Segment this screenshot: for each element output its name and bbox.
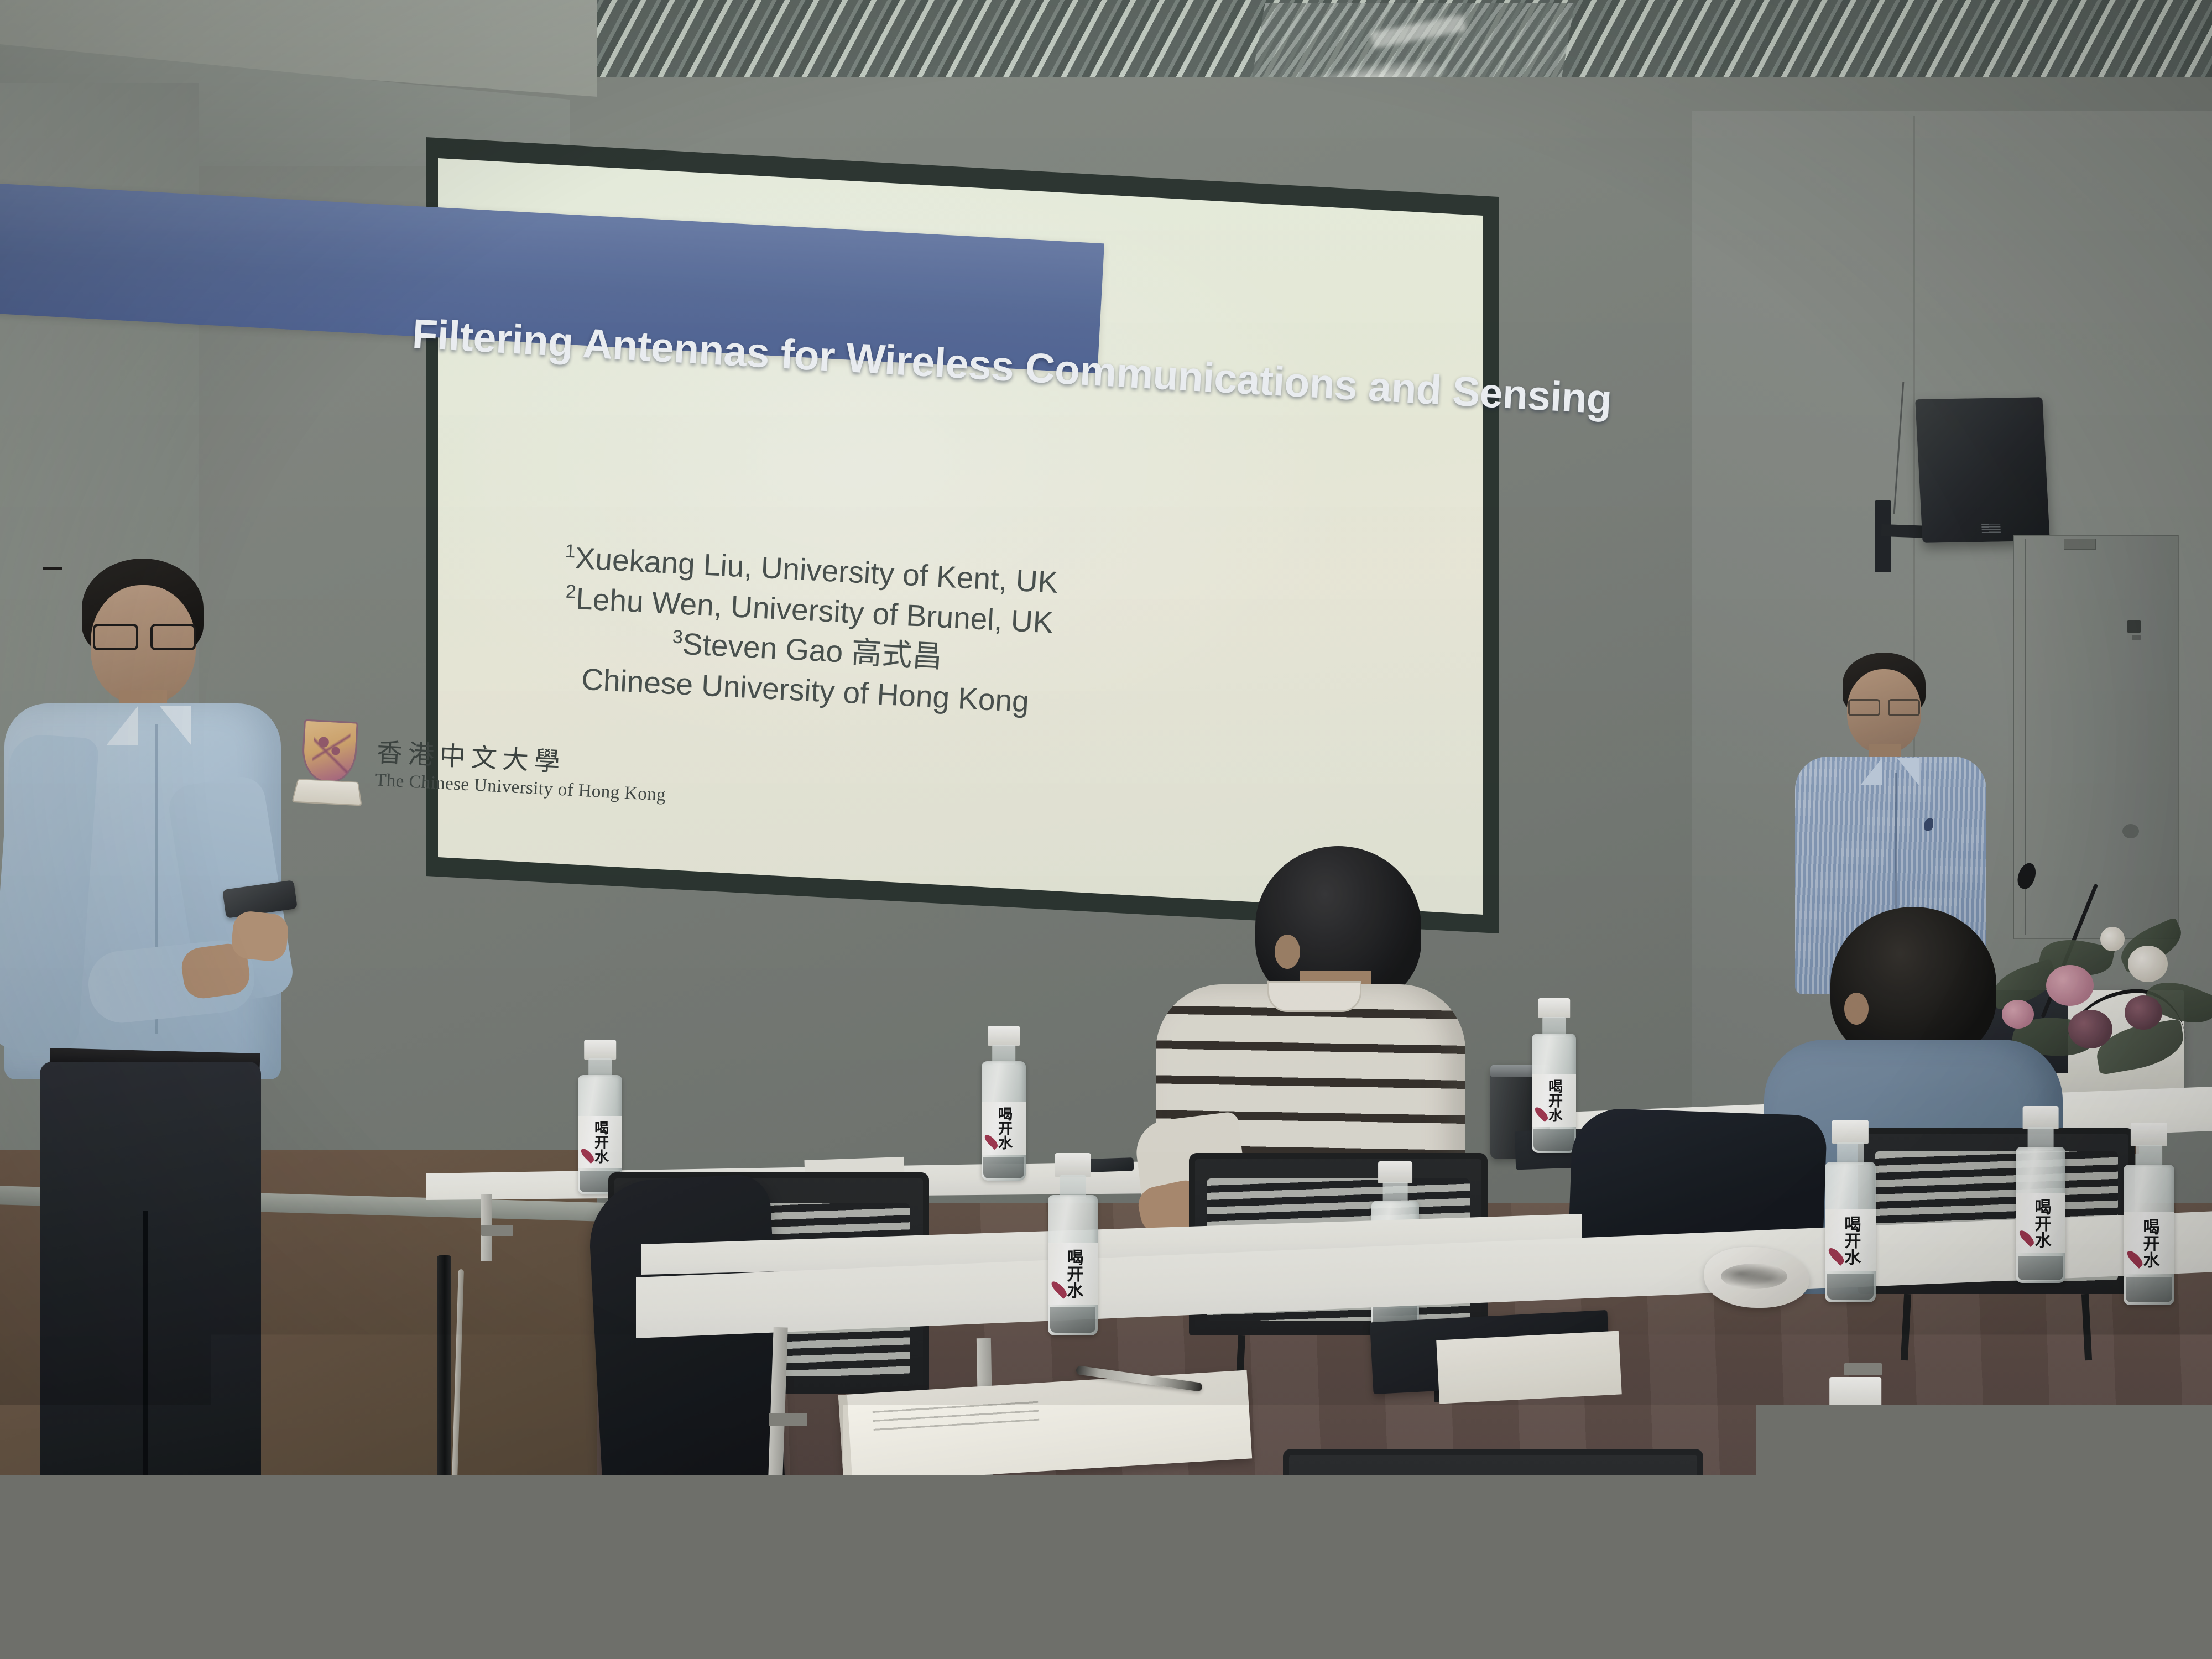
chair-back: [1283, 1449, 1703, 1659]
bottle-label: 喝开水: [1825, 1209, 1876, 1271]
bottle-water: [1827, 1274, 1874, 1300]
pole-base: [404, 1626, 498, 1659]
crest-ribbon: [291, 779, 362, 806]
person-presenter: [0, 559, 288, 1521]
bottle-body: 喝开水: [1825, 1162, 1876, 1302]
bottle-water: [1533, 1129, 1574, 1151]
collar-right: [159, 706, 191, 745]
room-door[interactable]: [2013, 535, 2179, 939]
bottle-cap: [1832, 1120, 1869, 1144]
door-lower-knob[interactable]: [2122, 824, 2139, 838]
trousers: [40, 1062, 261, 1521]
chair-slats: [1308, 1478, 1678, 1642]
bottle-cap: [1538, 998, 1570, 1018]
bottle-body: 喝开水: [1819, 1442, 1891, 1659]
wall-speaker-icon: [1915, 397, 2050, 543]
flower-bloom: [2068, 1010, 2112, 1048]
collar-right: [1897, 758, 1919, 785]
bottle-water: [1050, 1307, 1096, 1333]
collar-left: [1860, 758, 1882, 785]
bottle-body: 喝开水: [2124, 1165, 2174, 1305]
cuhk-crest-icon: [294, 719, 364, 805]
table-grommet: [481, 1225, 513, 1236]
bottle-body: 喝开水: [1532, 1034, 1576, 1153]
bottle-body: 喝开水: [1048, 1195, 1098, 1335]
speaker-brand-badge: [1981, 524, 2001, 533]
water-bottle[interactable]: 喝开水: [578, 1040, 622, 1194]
flower-bloom: [2128, 946, 2168, 982]
eyeglasses-icon: [93, 624, 196, 647]
water-bottle[interactable]: 喝开水: [1825, 1120, 1876, 1302]
bottle-label-text: 喝开水: [1843, 1215, 1859, 1265]
author-sup-3: 3: [672, 627, 684, 648]
bottle-cap: [1055, 1153, 1091, 1177]
conference-room-scene: Filtering Antennas for Wireless Communic…: [0, 0, 2212, 1659]
shoe-right: [105, 1477, 235, 1514]
eyeglasses-icon: [1848, 699, 1920, 713]
author-sup-2: 2: [565, 581, 577, 602]
folder-papers: [1436, 1331, 1622, 1404]
author-sup-1: 1: [565, 541, 576, 562]
bottle-label-text: 喝开水: [1843, 1525, 1867, 1601]
water-bottle[interactable]: 喝开水: [1048, 1153, 1098, 1335]
trouser-leg-seam: [143, 1211, 148, 1521]
bottle-cap: [1829, 1377, 1881, 1413]
bottle-cap: [584, 1040, 616, 1060]
ear: [1275, 935, 1300, 969]
water-bottle[interactable]: 喝开水: [1819, 1377, 1891, 1659]
water-bottle[interactable]: 喝开水: [982, 1026, 1026, 1181]
bottle-label: 喝开水: [1819, 1516, 1891, 1611]
hair: [1830, 907, 1996, 1062]
bottle-water: [1822, 1615, 1888, 1655]
bottle-label-text: 喝开水: [2141, 1218, 2157, 1268]
bottle-label-text: 喝开水: [1065, 1249, 1081, 1298]
bottle-label-text: 喝开水: [593, 1120, 607, 1164]
equipment-pole: [437, 1255, 451, 1659]
bottle-label-text: 喝开水: [997, 1107, 1011, 1150]
door-handle[interactable]: [2127, 620, 2141, 633]
bottle-body: 喝开水: [2016, 1147, 2065, 1283]
bottle-water: [2126, 1277, 2173, 1302]
water-bottle[interactable]: 喝开水: [1532, 998, 1576, 1153]
shirt-pocket-logo: [1924, 818, 1933, 831]
bottle-label: 喝开水: [982, 1102, 1026, 1155]
chair[interactable]: [1283, 1449, 1703, 1659]
collar-left: [106, 706, 138, 745]
flower-bud: [2100, 927, 2125, 951]
bottle-label-text: 喝开水: [2033, 1198, 2049, 1248]
door-closer: [2064, 539, 2096, 550]
bottle-cap: [2131, 1123, 2167, 1146]
bottle-cap: [2023, 1106, 2059, 1129]
bottle-label: 喝开水: [2124, 1212, 2174, 1274]
eyeglasses-bridge: [43, 567, 62, 570]
bottle-label: 喝开水: [1532, 1074, 1576, 1127]
notebook-writing: [872, 1395, 1039, 1431]
ear: [1844, 993, 1869, 1025]
bottle-label: 喝开水: [2016, 1193, 2065, 1253]
bottle-body: 喝开水: [982, 1061, 1026, 1181]
logo-text-block: 香港中文大學 The Chinese University of Hong Ko…: [374, 738, 668, 806]
table-grommet: [769, 1413, 807, 1426]
polo-collar: [1267, 981, 1361, 1012]
chair-legs: [1858, 1294, 2135, 1360]
jacket-on-chair-left: [587, 1173, 790, 1592]
water-bottle[interactable]: 喝开水: [2124, 1123, 2174, 1305]
bottle-label: 喝开水: [1048, 1243, 1098, 1305]
crest-shield: [301, 719, 358, 784]
bottle-label: 喝开水: [578, 1116, 622, 1168]
bottle-cap: [1378, 1161, 1412, 1183]
water-bottle[interactable]: 喝开水: [2016, 1106, 2065, 1283]
door-lock-icon[interactable]: [2132, 635, 2141, 640]
bottle-cap: [988, 1026, 1020, 1046]
table-grommet: [1844, 1363, 1882, 1375]
bottle-water: [2018, 1256, 2064, 1280]
hand-right: [230, 910, 290, 963]
bottle-label-text: 喝开水: [1547, 1079, 1561, 1122]
bottle-water: [983, 1157, 1024, 1178]
flower-bloom: [2125, 995, 2162, 1030]
